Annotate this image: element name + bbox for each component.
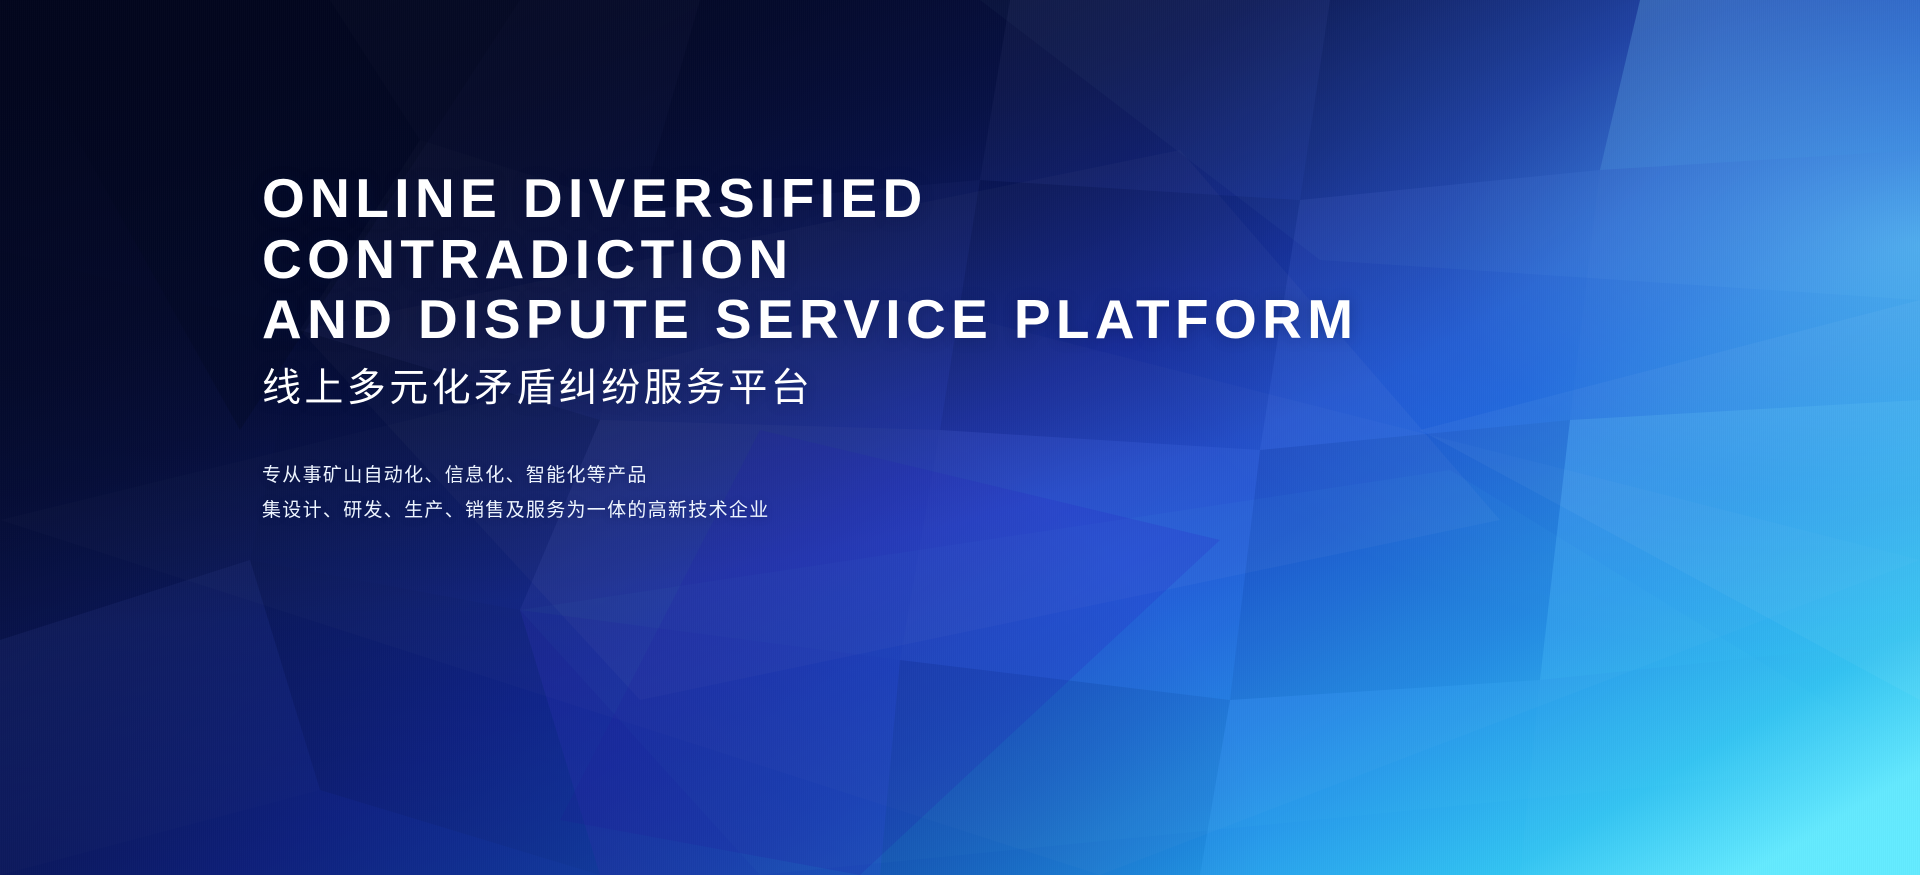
banner-description-line-1: 专从事矿山自动化、信息化、智能化等产品 [262,458,1382,493]
hero-banner: ONLINE DIVERSIFIED CONTRADICTION AND DIS… [0,0,1920,875]
banner-description-line-2: 集设计、研发、生产、销售及服务为一体的高新技术企业 [262,493,1382,528]
banner-content: ONLINE DIVERSIFIED CONTRADICTION AND DIS… [262,168,1382,529]
banner-subtitle: 线上多元化矛盾纠纷服务平台 [262,366,1382,413]
banner-headline: ONLINE DIVERSIFIED CONTRADICTION AND DIS… [262,168,1382,350]
banner-description-list: 专从事矿山自动化、信息化、智能化等产品 集设计、研发、生产、销售及服务为一体的高… [262,458,1382,528]
